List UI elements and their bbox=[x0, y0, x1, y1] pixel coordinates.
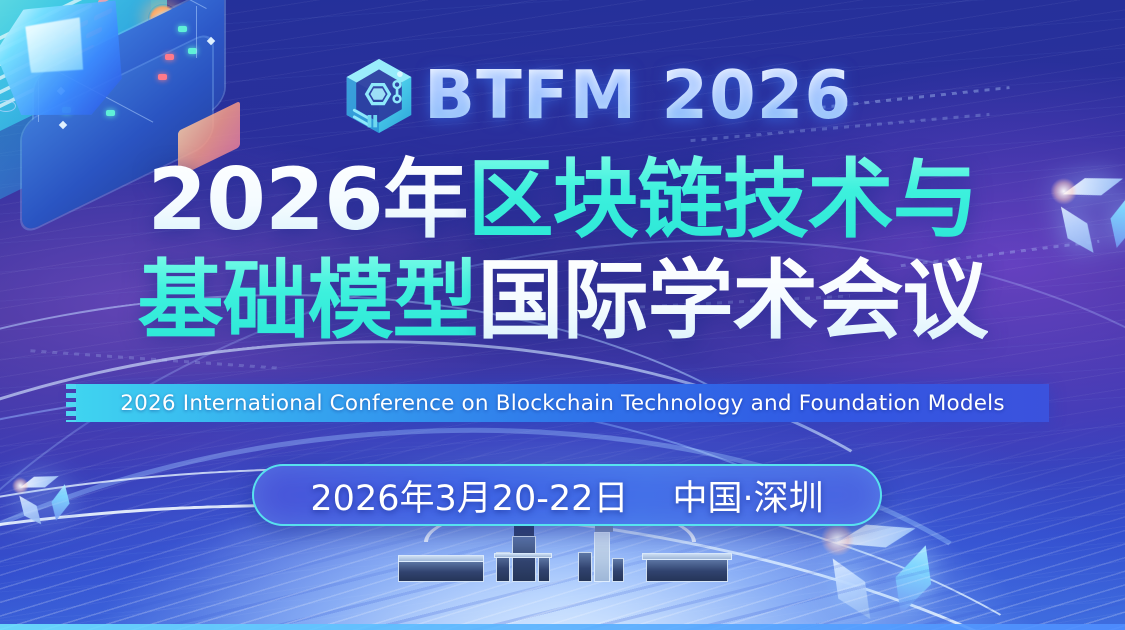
title-line2-segment-cyan: 基础模型 bbox=[138, 251, 478, 351]
english-subtitle-text: 2026 International Conference on Blockch… bbox=[120, 391, 1004, 416]
brand-title: BTFM 2026 bbox=[424, 59, 852, 131]
bottom-edge-accent bbox=[0, 624, 1125, 630]
main-title-line-2: 基础模型国际学术会议 bbox=[0, 253, 1125, 349]
english-subtitle-bar: 2026 International Conference on Blockch… bbox=[76, 384, 1049, 422]
conference-banner: BTFM 2026 2026年区块链技术与 基础模型国际学术会议 2026 In… bbox=[0, 0, 1125, 630]
title-line1-segment-white: 2026年 bbox=[147, 150, 467, 250]
main-title-line-1: 2026年区块链技术与 bbox=[0, 152, 1125, 248]
date-location-pill: 2026年3月20-22日 中国·深圳 bbox=[252, 464, 882, 526]
title-line1-segment-cyan: 区块链技术与 bbox=[468, 150, 978, 250]
conference-date: 2026年3月20-22日 bbox=[310, 470, 628, 521]
title-line2-segment-white: 国际学术会议 bbox=[478, 251, 988, 351]
conference-location: 中国·深圳 bbox=[672, 470, 823, 521]
subtitle-bar-ticks bbox=[66, 384, 76, 422]
blockchain-hexagon-cube-icon bbox=[341, 56, 417, 136]
